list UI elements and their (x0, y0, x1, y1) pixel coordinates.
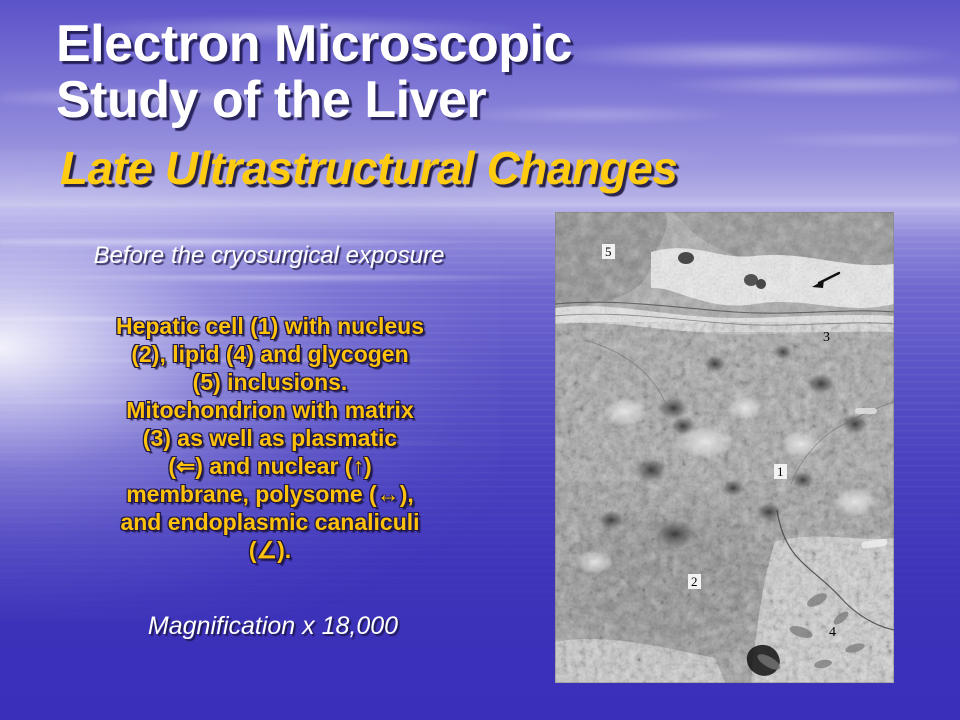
micrograph-label-2: 2 (688, 574, 701, 589)
micrograph-label-1: 1 (774, 464, 787, 479)
electron-micrograph: 53124 (555, 212, 894, 683)
body-line: (5) inclusions. (46, 368, 494, 396)
micrograph-label-5: 5 (602, 244, 615, 259)
body-line: Mitochondrion with matrix (46, 396, 494, 424)
body-description: Hepatic cell (1) with nucleus(2), lipid … (46, 312, 494, 564)
presentation-slide: Electron Microscopic Study of the Liver … (0, 0, 960, 720)
magnification-caption: Magnification x 18,000 (38, 612, 508, 641)
body-line: membrane, polysome (↔), (46, 480, 494, 508)
body-line: (2), lipid (4) and glycogen (46, 340, 494, 368)
body-line: and endoplasmic canaliculi (46, 508, 494, 536)
plasmatic-membrane-arrow (807, 270, 841, 292)
micrograph-label-4: 4 (826, 625, 839, 640)
lead-caption: Before the cryosurgical exposure (34, 242, 504, 270)
body-line: Hepatic cell (1) with nucleus (46, 312, 494, 340)
body-line: (⇐) and nuclear (↑) (46, 452, 494, 480)
body-line: (∠). (46, 536, 494, 564)
slide-content: Electron Microscopic Study of the Liver … (0, 0, 960, 720)
micrograph-image (555, 212, 894, 683)
slide-title: Electron Microscopic Study of the Liver (56, 16, 896, 128)
micrograph-label-3: 3 (820, 330, 833, 345)
body-line: (3) as well as plasmatic (46, 424, 494, 452)
title-line-2: Study of the Liver (56, 72, 896, 128)
title-line-1: Electron Microscopic (56, 16, 896, 72)
slide-subtitle: Late Ultrastructural Changes (60, 142, 940, 194)
